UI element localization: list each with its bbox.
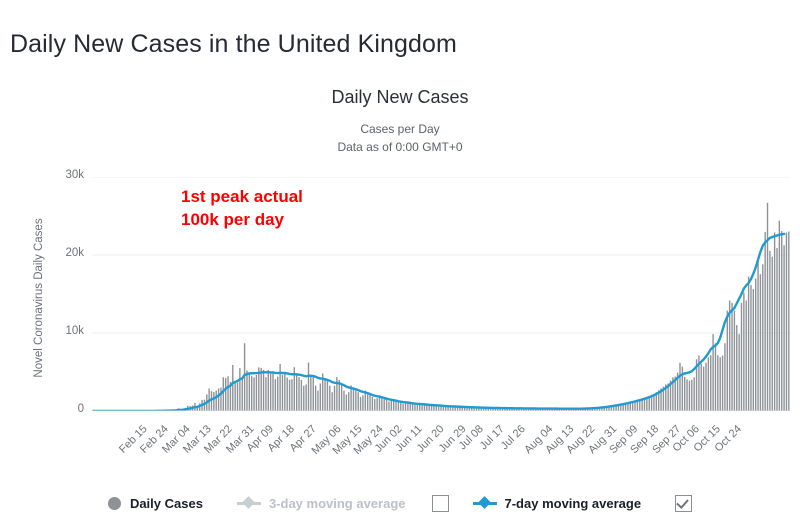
y-axis-tick-labels: 010k20k30k [40, 177, 84, 411]
chart-subtitle-data-as-of: Data as of 0:00 GMT+0 [0, 140, 800, 154]
y-tick-label: 20k [65, 247, 84, 259]
y-tick-label: 10k [65, 325, 84, 337]
chart-legend: Daily Cases 3-day moving average 7-day m… [0, 487, 800, 519]
daily-cases-dot-icon [108, 497, 121, 510]
chart-title: Daily New Cases [0, 87, 800, 108]
daily-cases-bars [163, 203, 789, 411]
x-axis-tick-labels: Feb 15Feb 24Mar 04Mar 13Mar 22Mar 31Apr … [92, 415, 792, 485]
legend-item-7day-average[interactable]: 7-day moving average [473, 496, 642, 511]
chart-subtitle-cases-per-day: Cases per Day [0, 122, 800, 136]
legend-item-3day-average[interactable]: 3-day moving average [237, 496, 406, 511]
page-title: Daily New Cases in the United Kingdom [10, 30, 457, 59]
legend-label-daily-cases: Daily Cases [130, 496, 203, 511]
y-tick-label: 30k [65, 169, 84, 181]
legend-label-3day-average: 3-day moving average [269, 496, 406, 511]
legend-checkbox-3day-average[interactable] [432, 495, 449, 512]
y-tick-label: 0 [78, 403, 84, 415]
legend-checkbox-7day-average[interactable] [675, 495, 692, 512]
annotation-line-1: 1st peak actual [181, 186, 303, 209]
seven-day-average-line-icon [473, 497, 497, 509]
legend-item-daily-cases[interactable]: Daily Cases [108, 496, 203, 511]
annotation-line-2: 100k per day [181, 209, 303, 232]
three-day-average-line-icon [237, 497, 261, 509]
chart-card: Daily New Cases Cases per Day Data as of… [0, 60, 800, 519]
annotation-first-peak: 1st peak actual 100k per day [181, 186, 303, 232]
legend-label-7day-average: 7-day moving average [505, 496, 642, 511]
